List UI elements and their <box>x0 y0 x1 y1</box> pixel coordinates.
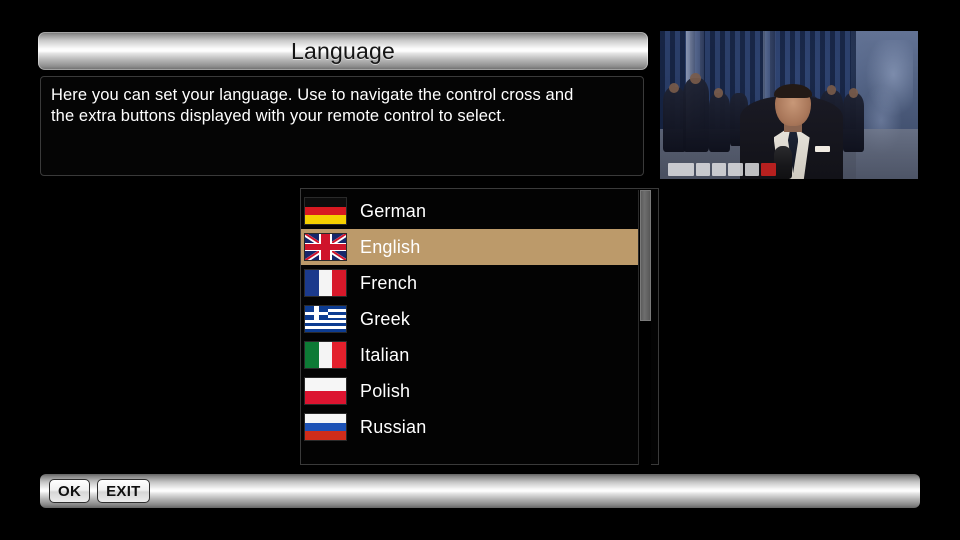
list-item-polish[interactable]: Polish <box>301 373 644 409</box>
ok-button[interactable]: OK <box>49 479 90 503</box>
flag-gb-icon <box>304 233 347 261</box>
flag-fr-icon <box>304 269 347 297</box>
video-reporter-pocket-square <box>815 146 830 152</box>
list-item-label: Italian <box>360 345 409 366</box>
list-item-label: French <box>360 273 417 294</box>
flag-ru-icon <box>304 413 347 441</box>
tv-settings-screen: Language Here you can set your language.… <box>0 0 960 540</box>
video-reporter-hair <box>774 84 813 97</box>
video-crowd-head <box>827 85 837 95</box>
video-crowd-head <box>669 83 679 93</box>
video-crowd-head <box>849 88 858 97</box>
news-channel-logo <box>668 163 787 176</box>
flag-pl-icon <box>304 377 347 405</box>
list-item-label: Polish <box>360 381 410 402</box>
scrollbar-thumb[interactable] <box>640 190 651 321</box>
list-item-label: German <box>360 201 426 222</box>
list-item-french[interactable]: French <box>301 265 644 301</box>
language-list-panel[interactable]: German English <box>300 188 659 465</box>
description-panel: Here you can set your language. Use to n… <box>40 76 644 176</box>
list-item-label: Russian <box>360 417 426 438</box>
language-list-scrollbar[interactable] <box>638 190 651 465</box>
video-crowd-person <box>683 78 709 152</box>
video-crowd-person <box>843 93 864 152</box>
video-preview[interactable] <box>660 31 918 179</box>
list-item-greek[interactable]: Greek <box>301 301 644 337</box>
title-bar: Language <box>38 32 648 70</box>
bottom-softkey-bar: OK EXIT <box>40 474 920 508</box>
flag-de-icon <box>304 197 347 225</box>
list-item-italian[interactable]: Italian <box>301 337 644 373</box>
description-text: Here you can set your language. Use to n… <box>51 85 633 127</box>
exit-button[interactable]: EXIT <box>97 479 150 503</box>
flag-it-icon <box>304 341 347 369</box>
video-crowd-person <box>709 93 730 152</box>
list-item-label: English <box>360 237 420 258</box>
list-item-german[interactable]: German <box>301 193 644 229</box>
list-item-english[interactable]: English <box>301 229 642 265</box>
list-item-russian[interactable]: Russian <box>301 409 644 445</box>
list-item-label: Greek <box>360 309 410 330</box>
video-crowd-head <box>714 88 723 97</box>
page-title: Language <box>291 38 395 65</box>
flag-gr-icon <box>304 305 347 333</box>
language-list: German English <box>301 189 644 464</box>
